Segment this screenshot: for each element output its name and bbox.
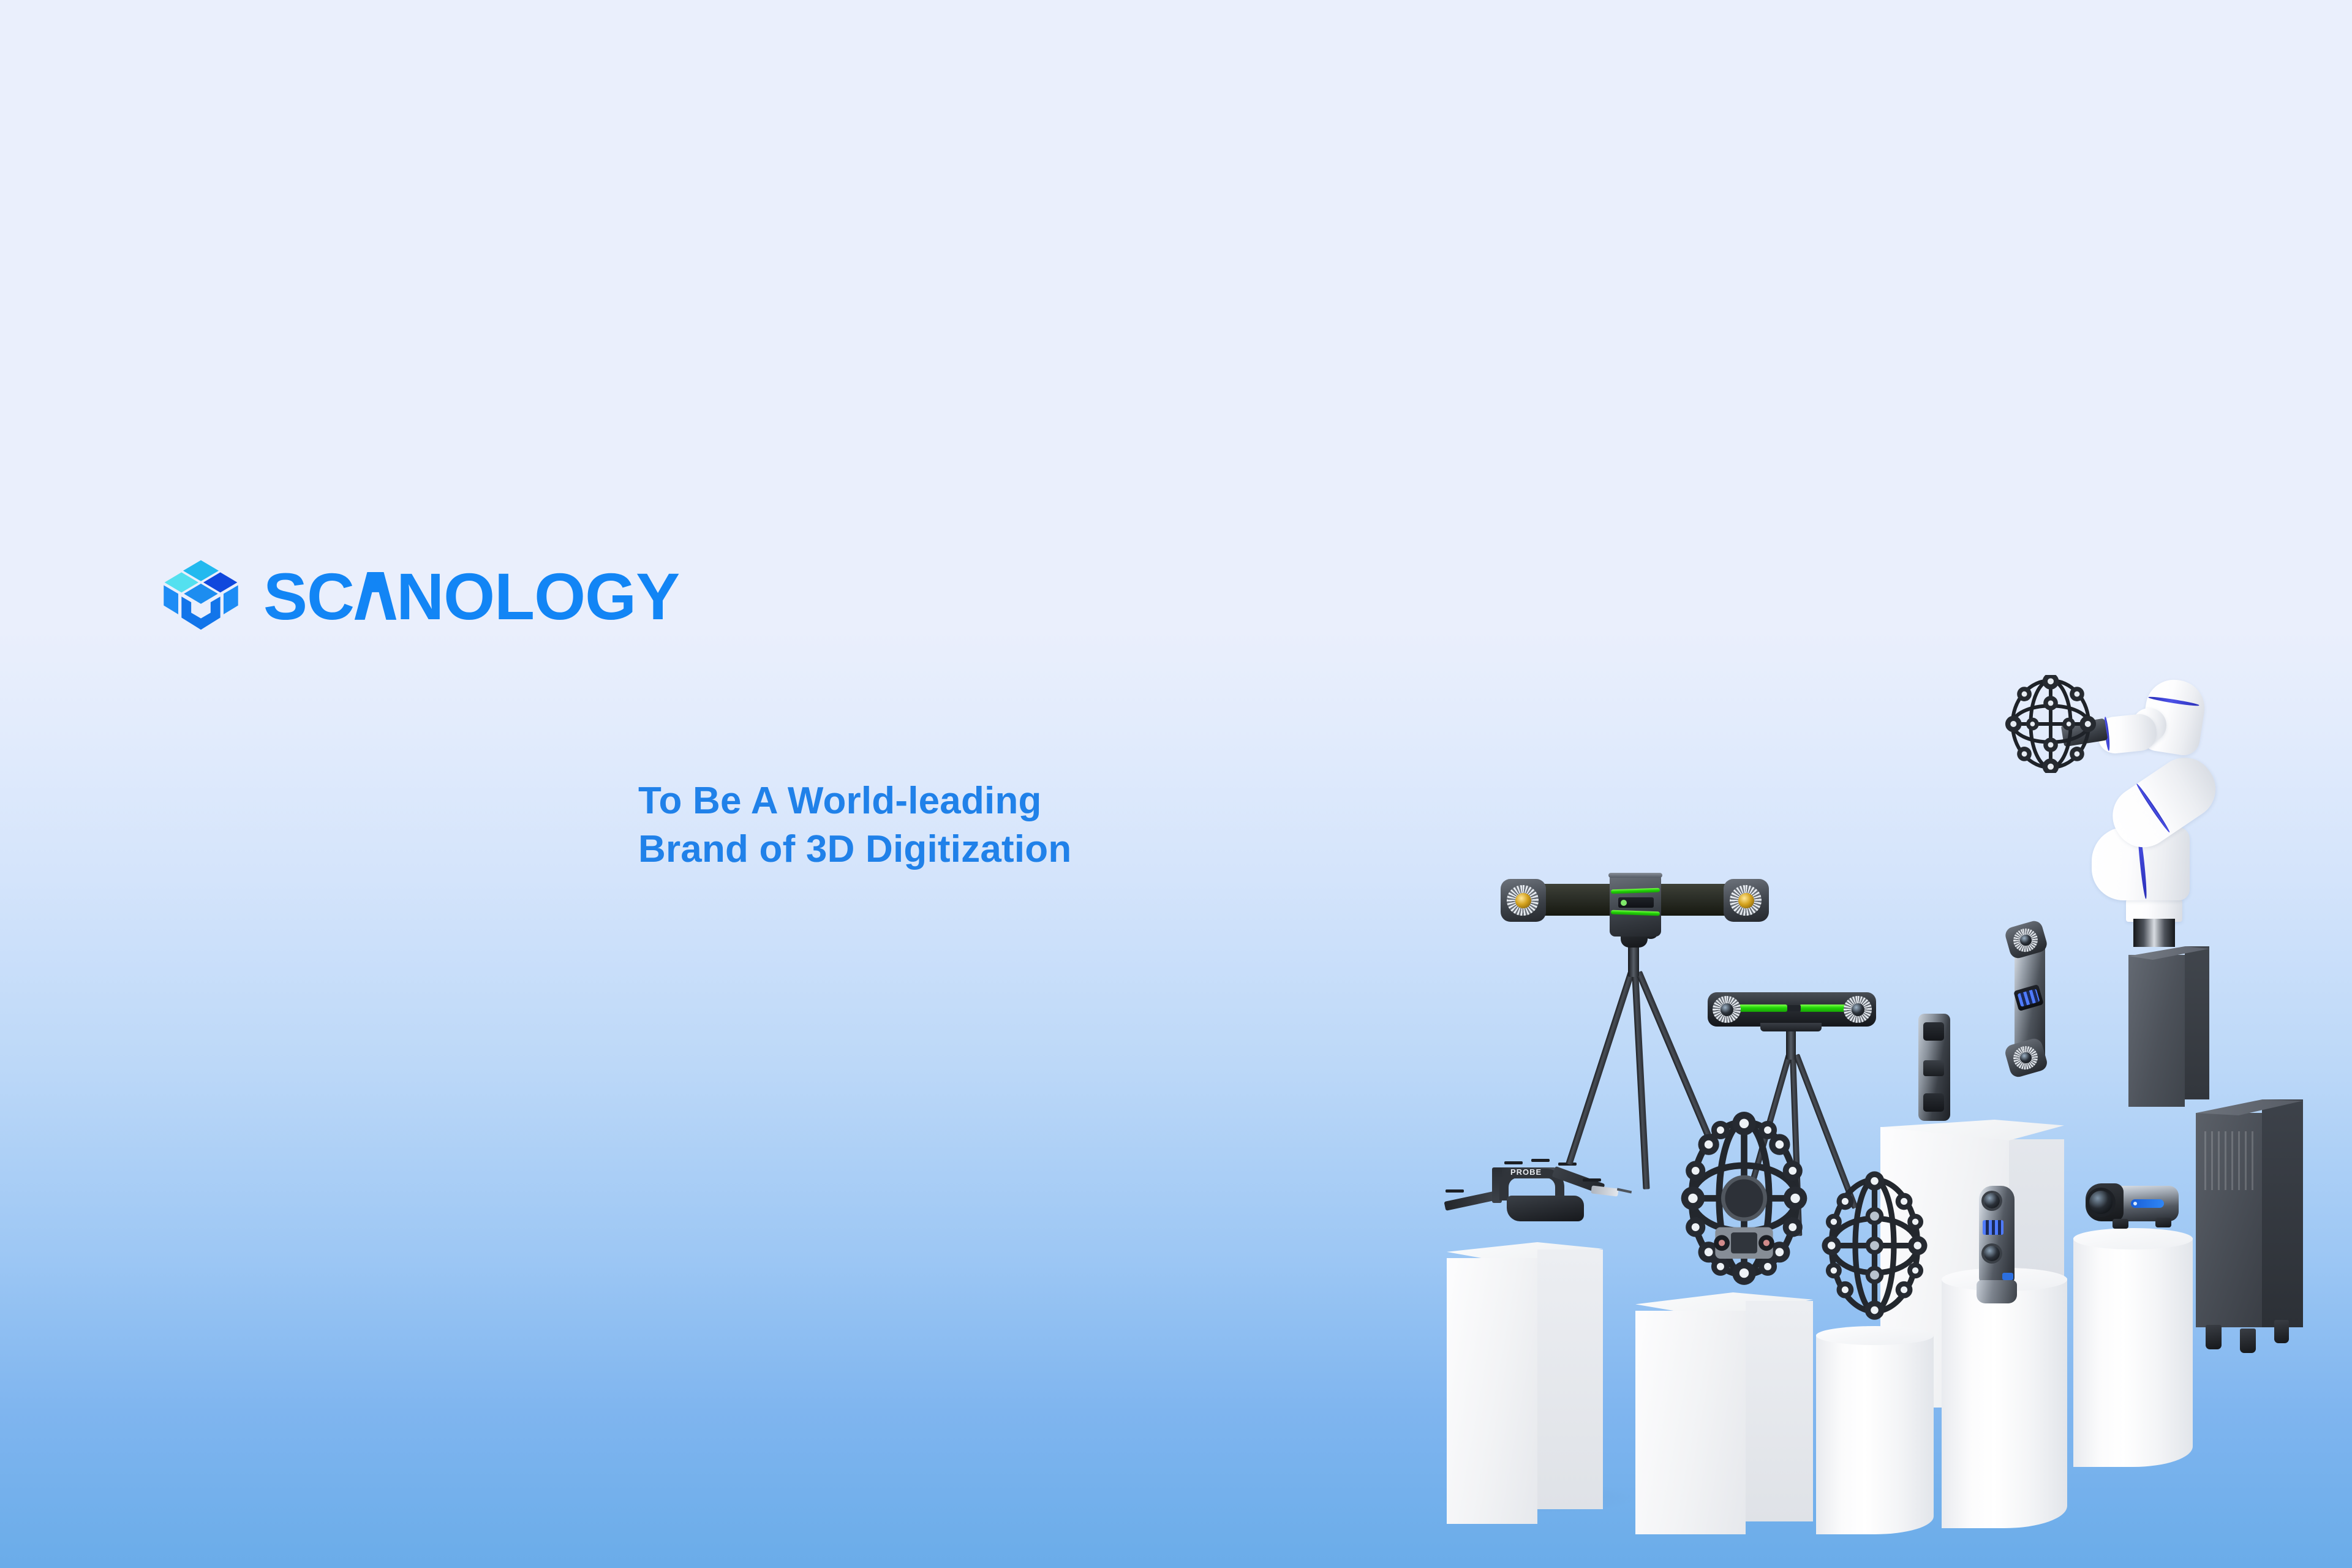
scanology-wordmark: SC NOLOGY	[263, 563, 679, 630]
podium-cylinder-1	[1816, 1326, 1934, 1534]
podium-cylinder-2	[1942, 1268, 2067, 1528]
scanology-cube-logo-icon	[160, 556, 241, 637]
scanner-green-strip	[1800, 1005, 1850, 1012]
cabinet-caster	[2240, 1329, 2256, 1353]
photogrammetry-sphere-2	[1818, 1170, 1931, 1330]
wordmark-part-2: NOLOGY	[396, 563, 679, 630]
podium-cylinder-3	[2073, 1228, 2193, 1467]
tripod-leg	[1632, 972, 1650, 1189]
product-lineup-image: PROBE	[1409, 551, 2352, 1053]
control-cabinet	[2196, 1099, 2303, 1338]
brand-lockup[interactable]: SC NOLOGY	[160, 556, 679, 637]
scanner-green-strip	[1733, 1005, 1787, 1012]
photogrammetry-sphere-1	[1678, 1112, 1810, 1295]
robot-arm	[2012, 643, 2233, 962]
wordmark-part-1: SC	[263, 563, 354, 630]
handheld-scanner-flat	[1918, 1014, 1950, 1121]
wordmark-lambda-a-icon	[355, 571, 396, 619]
tagline-line-2: Brand of 3D Digitization	[638, 825, 1071, 873]
hero-banner: SC NOLOGY To Be A World-leading Brand of…	[0, 0, 2352, 1568]
handheld-scanner-standing	[1975, 1182, 2019, 1305]
robot-pedestal	[2128, 946, 2209, 1107]
tagline: To Be A World-leading Brand of 3D Digiti…	[638, 777, 1071, 874]
cabinet-caster	[2274, 1320, 2289, 1343]
handheld-scanner-upright	[2006, 924, 2054, 1080]
cabinet-vent	[2204, 1131, 2256, 1190]
compact-scanner	[2086, 1177, 2187, 1234]
cabinet-caster	[2206, 1325, 2222, 1349]
robot-arm-sphere-scanner	[2005, 675, 2097, 773]
podium-cube-center	[1635, 1292, 1813, 1534]
tagline-line-1: To Be A World-leading	[638, 777, 1071, 825]
robot-base	[2126, 897, 2182, 922]
tripod-leg	[1566, 971, 1634, 1165]
